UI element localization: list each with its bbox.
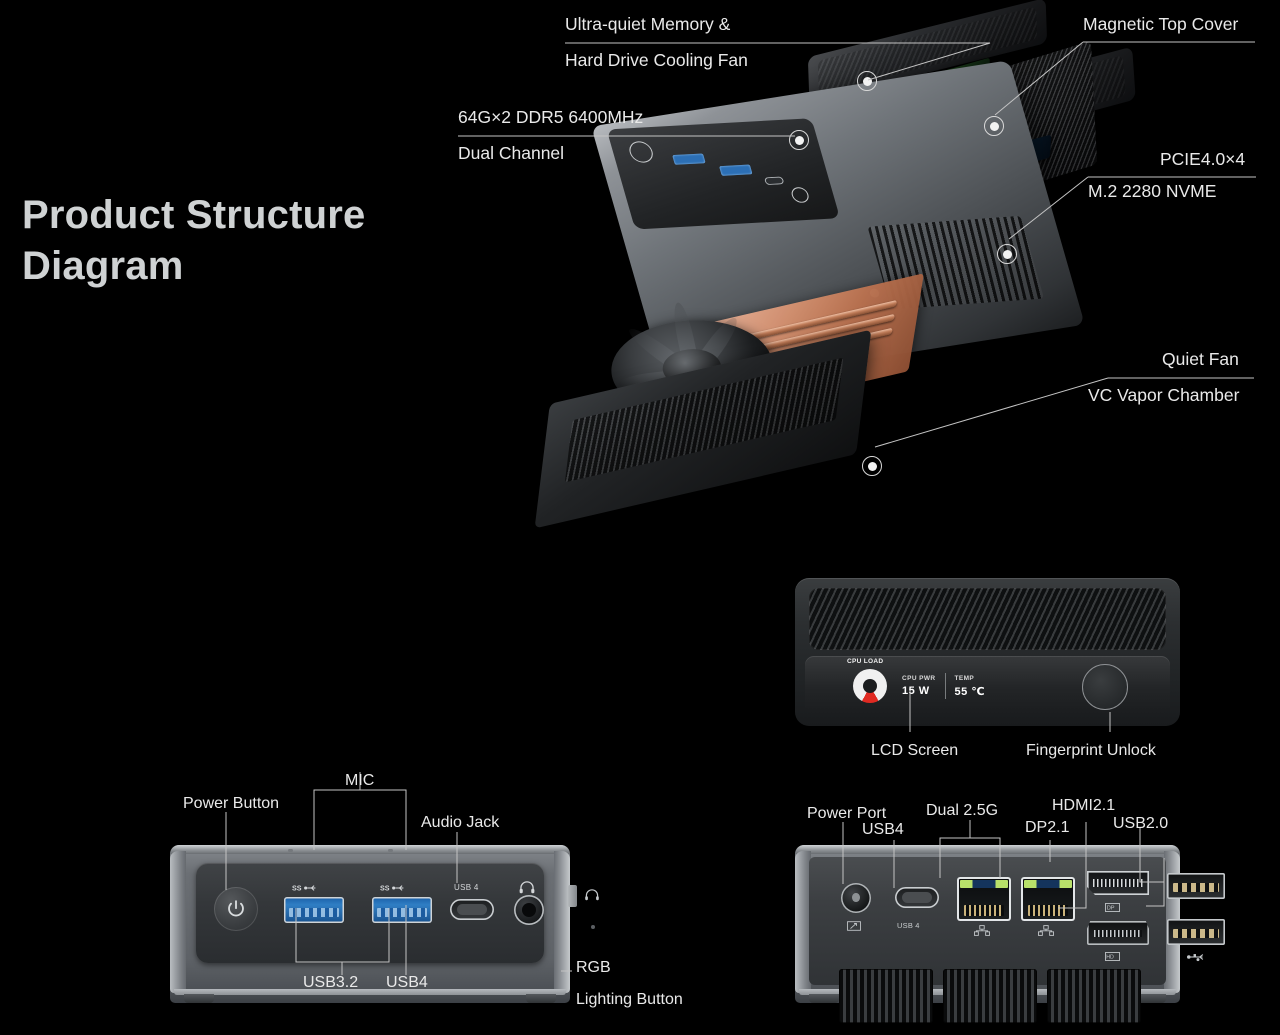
callout-usb4-rear: USB4 xyxy=(862,819,904,842)
callout-dual-lan: Dual 2.5G xyxy=(926,800,998,823)
callout-usb4-rear-text: USB4 xyxy=(862,819,904,842)
diagram-canvas: Product Structure Diagram xyxy=(0,0,1280,1035)
callout-hdmi: HDMI2.1 xyxy=(1052,795,1115,818)
callout-hdmi-text: HDMI2.1 xyxy=(1052,795,1115,818)
callout-dual-lan-text: Dual 2.5G xyxy=(926,800,998,823)
callout-usb20-text: USB2.0 xyxy=(1113,813,1168,836)
rear-unit-leader-lines xyxy=(0,0,1280,1035)
callout-dp-text: DP2.1 xyxy=(1025,817,1069,840)
callout-dp: DP2.1 xyxy=(1025,817,1069,840)
callout-usb20: USB2.0 xyxy=(1113,813,1168,836)
